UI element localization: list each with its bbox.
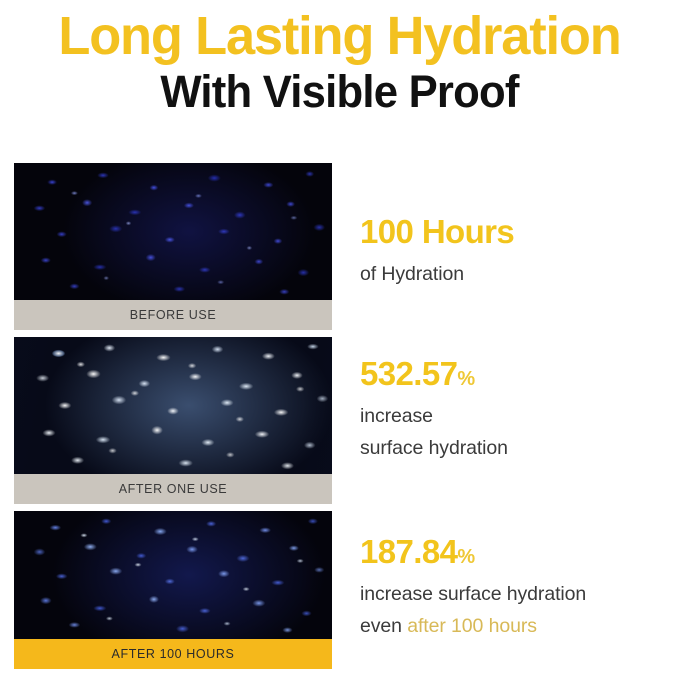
micrograph-image-before-use <box>14 163 332 300</box>
speckle-texture-icon <box>14 163 332 300</box>
stat-number-one-use: 532.57 <box>360 355 457 392</box>
speckle-texture-icon <box>14 337 332 474</box>
stat-value-100-hours: 187.84% <box>360 533 679 576</box>
stat-block-hours: 100 Hours of Hydration <box>360 213 679 288</box>
stat-desc-one-use-line2: surface hydration <box>360 435 679 462</box>
stat-desc-one-use-line1: increase <box>360 403 679 430</box>
page-title: Long Lasting Hydration <box>10 0 669 66</box>
speckle-texture-icon <box>14 511 332 639</box>
micrograph-panel-list: BEFORE USE AFTER ONE USE AFTER 100 HOURS <box>14 163 332 676</box>
stat-desc-hours-line1: of Hydration <box>360 261 679 288</box>
micrograph-image-after-one-use <box>14 337 332 474</box>
stat-value-one-use: 532.57% <box>360 355 679 398</box>
stat-unit-100-hours: % <box>457 546 475 568</box>
panel-caption-after-100-hours: AFTER 100 HOURS <box>14 639 332 669</box>
micrograph-image-after-100-hours <box>14 511 332 639</box>
panel-caption-before-use: BEFORE USE <box>14 300 332 330</box>
panel-caption-after-one-use: AFTER ONE USE <box>14 474 332 504</box>
page-subtitle: With Visible Proof <box>10 66 669 118</box>
stat-desc-100-hours-line2: even after 100 hours <box>360 613 679 640</box>
stat-number-hours: 100 Hours <box>360 213 514 250</box>
stat-desc-100-hours-prefix: even <box>360 615 407 637</box>
micrograph-panel-before-use: BEFORE USE <box>14 163 332 330</box>
stat-desc-100-hours-line1: increase surface hydration <box>360 581 679 608</box>
stat-desc-100-hours-highlight: after 100 hours <box>407 615 537 637</box>
stat-number-100-hours: 187.84 <box>360 533 457 570</box>
micrograph-panel-after-one-use: AFTER ONE USE <box>14 337 332 504</box>
headline-block: Long Lasting Hydration With Visible Proo… <box>0 0 679 118</box>
micrograph-panel-after-100-hours: AFTER 100 HOURS <box>14 511 332 669</box>
stat-block-100-hours: 187.84% increase surface hydration even … <box>360 533 679 640</box>
stat-block-one-use: 532.57% increase surface hydration <box>360 355 679 462</box>
stat-unit-one-use: % <box>457 368 475 390</box>
stat-value-hours: 100 Hours <box>360 213 679 256</box>
